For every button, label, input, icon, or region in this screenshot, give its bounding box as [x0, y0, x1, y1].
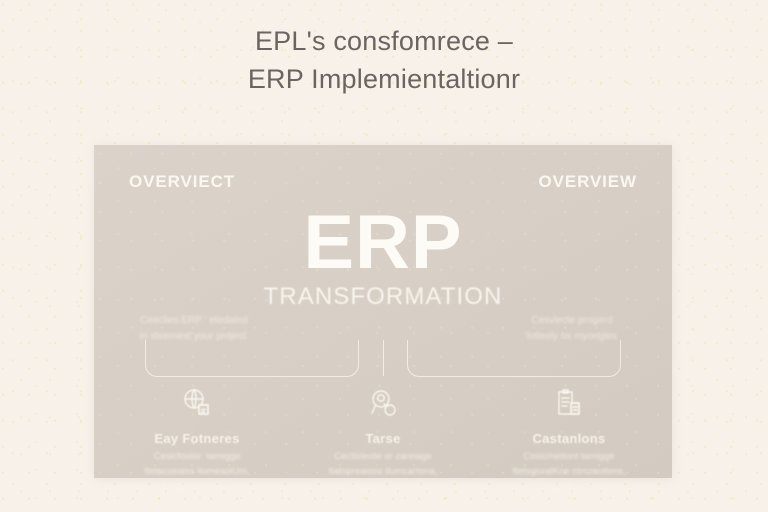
feature-card-body: Cosicmetlont tamigge ttetsgsxalKoe ctmze… [480, 449, 658, 495]
side-copy-left-line-2: in steernext your projecl. [110, 329, 278, 345]
feature-card-body-line-1: Cectloleote or zareiage [294, 449, 472, 464]
feature-card-body-line-3: Gregltcel tozaes [108, 479, 286, 494]
page-title-line-1: EPL's consfomrece – [0, 22, 768, 60]
feature-card-title: Tarse [294, 431, 472, 446]
feature-card-title: Eay Fotneres [108, 431, 286, 446]
feature-card[interactable]: Castanlons Cosicmetlont tamigge ttetsgsx… [480, 381, 658, 495]
side-copy-right-line-1: Cesvlecte progerd [488, 313, 656, 329]
feature-card-body-line-1: Cesicfostor: tamigge [108, 449, 286, 464]
connector-bracket-right [407, 340, 621, 377]
side-copy-right: Cesvlecte progerd lotleely ox myongles [488, 313, 656, 344]
hero-heading-sub: TRANSFORMATION [94, 283, 672, 311]
hero-heading: ERP TRANSFORMATION [94, 207, 672, 311]
feature-card-body-line-3: Cmegixtall szoyws [480, 479, 658, 494]
feature-card-body-line-2: ttetsgsxalKoe ctmzeotlons, [480, 464, 658, 479]
eyebrow-label-right: OVERVIEW [538, 172, 637, 192]
side-copy-left: Ceeclies ERP ' etedaled in steernext you… [110, 313, 278, 344]
erp-overview-panel: OVERVIECT OVERVIEW ERP TRANSFORMATION Ce… [94, 145, 672, 478]
slide-canvas: EPL's consfomrece – ERP Implemientaltion… [0, 0, 768, 512]
feature-card-body-line-2: tlatopreaioss tlumcartona, [294, 464, 472, 479]
feature-card-body-line-3: Emogivoo smpyjes [294, 479, 472, 494]
feature-card-body: Cectloleote or zareiage tlatopreaioss tl… [294, 449, 472, 495]
page-title-line-2: ERP Implemientaltionr [0, 60, 768, 98]
connector-stem-center [383, 340, 384, 376]
globe-document-icon [108, 381, 286, 425]
feature-card-body-line-2: ttetecseaiss ilumesoiUm, [108, 464, 286, 479]
magnifier-target-icon [294, 381, 472, 425]
side-copy-left-line-1: Ceeclies ERP ' etedaled [110, 313, 278, 329]
feature-card-body-line-1: Cosicmetlont tamigge [480, 449, 658, 464]
feature-card-title: Castanlons [480, 431, 658, 446]
page-title: EPL's consfomrece – ERP Implemientaltion… [0, 22, 768, 99]
feature-card[interactable]: Eay Fotneres Cesicfostor: tamigge ttetec… [108, 381, 286, 495]
hero-heading-main: ERP [94, 207, 672, 279]
feature-card[interactable]: Tarse Cectloleote or zareiage tlatopreai… [294, 381, 472, 495]
eyebrow-label-left: OVERVIECT [129, 172, 235, 192]
side-copy-right-line-2: lotleely ox myongles [488, 329, 656, 345]
clipboard-checklist-icon [480, 381, 658, 425]
feature-card-body: Cesicfostor: tamigge ttetecseaiss ilumes… [108, 449, 286, 495]
feature-card-list: Eay Fotneres Cesicfostor: tamigge ttetec… [108, 381, 658, 495]
connector-bracket-left [145, 340, 359, 377]
